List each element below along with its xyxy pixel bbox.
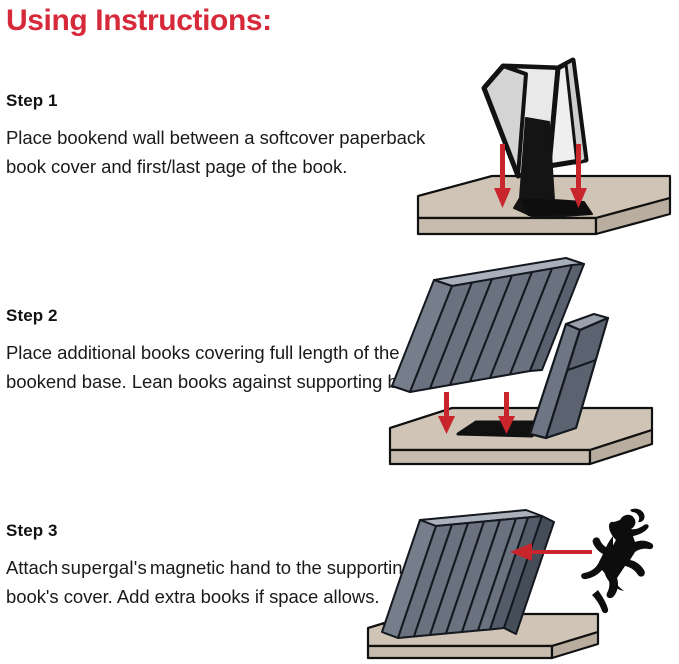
step-1-heading: Step 1 <box>6 90 436 112</box>
step-1-illustration <box>408 48 679 248</box>
step-3-body-before: Attach <box>6 557 58 578</box>
page-title: Using Instructions: <box>6 4 272 38</box>
step-3-illustration <box>358 498 679 664</box>
step-2-heading: Step 2 <box>6 305 436 327</box>
step-2-body: Place additional books covering full len… <box>6 339 436 396</box>
supergal-silhouette <box>581 509 653 614</box>
step-1-block: Step 1 Place bookend wall between a soft… <box>6 90 436 181</box>
step-1-body: Place bookend wall between a softcover p… <box>6 124 436 181</box>
step-2-illustration <box>380 252 679 472</box>
brand-name-supergal: supergal's <box>58 557 150 578</box>
step-2-block: Step 2 Place additional books covering f… <box>6 305 436 396</box>
